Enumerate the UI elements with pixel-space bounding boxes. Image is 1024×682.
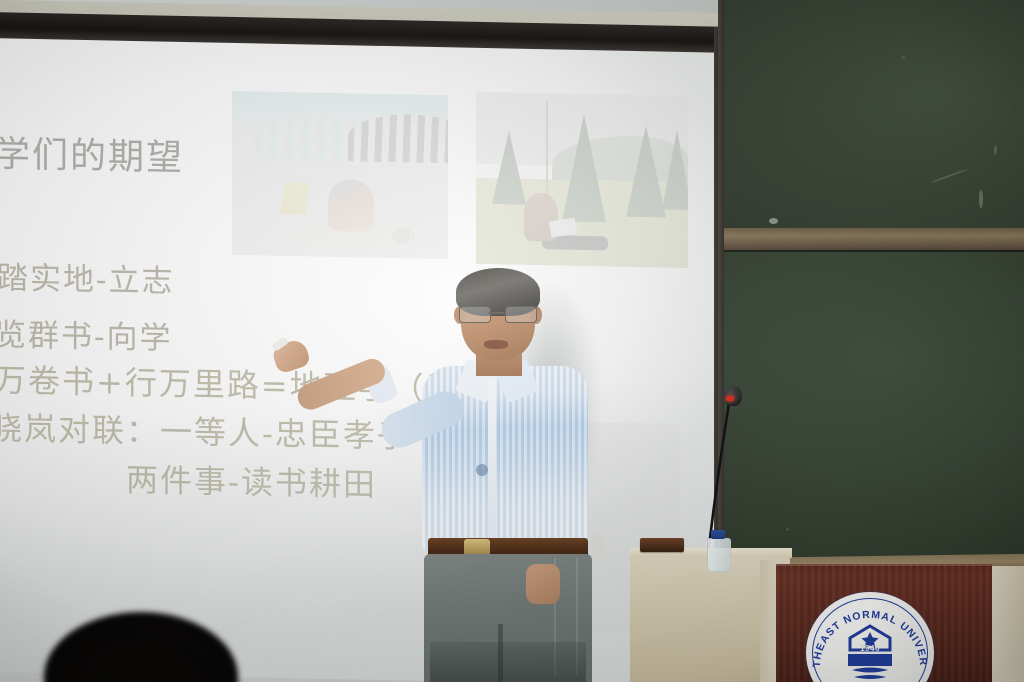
eyeglasses <box>457 306 539 321</box>
microphone-led-indicator <box>726 396 734 401</box>
blackboard-eraser <box>640 538 684 552</box>
slide-line-2: 博览群书-向学 <box>0 309 172 358</box>
seal-arc-text: NORTHEAST NORMAL UNIVERSITY <box>806 592 934 682</box>
presenter <box>330 268 630 682</box>
chalkboard <box>724 0 1024 600</box>
shirt-placket <box>488 380 496 540</box>
trouser-shadow <box>430 642 586 682</box>
slide-title: 同学们的期望 <box>0 124 184 181</box>
seal-emblem-shield <box>848 626 892 682</box>
university-seal: NORTHEAST NORMAL UNIVERSITY 1946 <box>806 592 934 682</box>
slide-line-1: 脚踏实地-立志 <box>0 252 174 301</box>
chalkboard-lower-panel <box>724 252 1024 562</box>
seal-year: 1946 <box>806 644 934 653</box>
shirt-logo <box>476 464 488 476</box>
water-bottle-cap <box>711 530 725 539</box>
presenter-pocket-hand <box>526 564 560 604</box>
presenter-mouth <box>484 340 508 349</box>
podium-right-panel <box>992 566 1024 682</box>
trouser-leg-seam <box>498 624 503 682</box>
water-bottle <box>707 538 731 572</box>
chalkboard-upper-panel <box>724 0 1024 232</box>
lecture-hall-photo: 同学们的期望 脚踏实地-立志 博览群书-向学 读万卷书+行万里路=地理学（读书+… <box>0 0 1024 682</box>
